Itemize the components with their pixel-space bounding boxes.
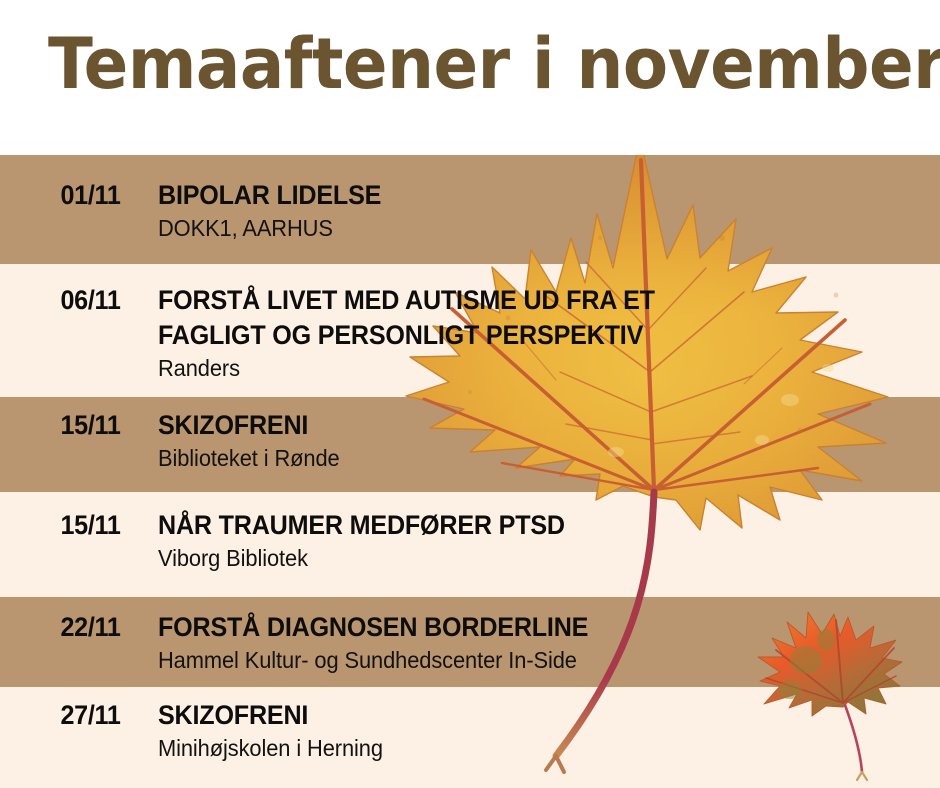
event-venue: Viborg Bibliotek xyxy=(158,543,901,573)
event-date: 01/11 xyxy=(0,178,147,212)
event-date: 15/11 xyxy=(0,508,147,542)
event-title-line: FORSTÅ DIAGNOSEN BORDERLINE xyxy=(158,610,885,645)
list-item[interactable]: 15/11 NÅR TRAUMER MEDFØRER PTSD Viborg B… xyxy=(0,508,940,573)
event-title-line: SKIZOFRENI xyxy=(158,698,885,733)
event-title-line: NÅR TRAUMER MEDFØRER PTSD xyxy=(158,508,885,543)
event-title-line: SKIZOFRENI xyxy=(158,408,885,443)
event-date: 06/11 xyxy=(0,283,147,317)
event-date: 22/11 xyxy=(0,610,147,644)
event-venue: DOKK1, AARHUS xyxy=(158,213,901,243)
poster-canvas: Temaaftener i november 01/11 BIPOLAR LID… xyxy=(0,0,940,788)
list-item[interactable]: 27/11 SKIZOFRENI Minihøjskolen i Herning xyxy=(0,698,940,763)
list-item[interactable]: 15/11 SKIZOFRENI Biblioteket i Rønde xyxy=(0,408,940,473)
event-title-line: FAGLIGT OG PERSONLIGT PERSPEKTIV xyxy=(158,318,885,353)
event-date: 15/11 xyxy=(0,408,147,442)
event-venue: Minihøjskolen i Herning xyxy=(158,733,901,763)
event-details: FORSTÅ LIVET MED AUTISME UD FRA ET FAGLI… xyxy=(158,283,940,383)
event-venue: Biblioteket i Rønde xyxy=(158,443,901,473)
page-title: Temaaftener i november xyxy=(48,22,940,106)
event-date: 27/11 xyxy=(0,698,147,732)
event-venue: Randers xyxy=(158,353,901,383)
list-item[interactable]: 22/11 FORSTÅ DIAGNOSEN BORDERLINE Hammel… xyxy=(0,610,940,675)
event-details: SKIZOFRENI Biblioteket i Rønde xyxy=(158,408,940,473)
event-details: SKIZOFRENI Minihøjskolen i Herning xyxy=(158,698,940,763)
list-item[interactable]: 01/11 BIPOLAR LIDELSE DOKK1, AARHUS xyxy=(0,178,940,243)
event-details: BIPOLAR LIDELSE DOKK1, AARHUS xyxy=(158,178,940,243)
event-title-line: FORSTÅ LIVET MED AUTISME UD FRA ET xyxy=(158,283,885,318)
event-details: FORSTÅ DIAGNOSEN BORDERLINE Hammel Kultu… xyxy=(158,610,940,675)
event-venue: Hammel Kultur- og Sundhedscenter In-Side xyxy=(158,645,901,675)
list-item[interactable]: 06/11 FORSTÅ LIVET MED AUTISME UD FRA ET… xyxy=(0,283,940,383)
poster-header: Temaaftener i november xyxy=(0,0,940,155)
event-title-line: BIPOLAR LIDELSE xyxy=(158,178,885,213)
event-details: NÅR TRAUMER MEDFØRER PTSD Viborg Bibliot… xyxy=(158,508,940,573)
